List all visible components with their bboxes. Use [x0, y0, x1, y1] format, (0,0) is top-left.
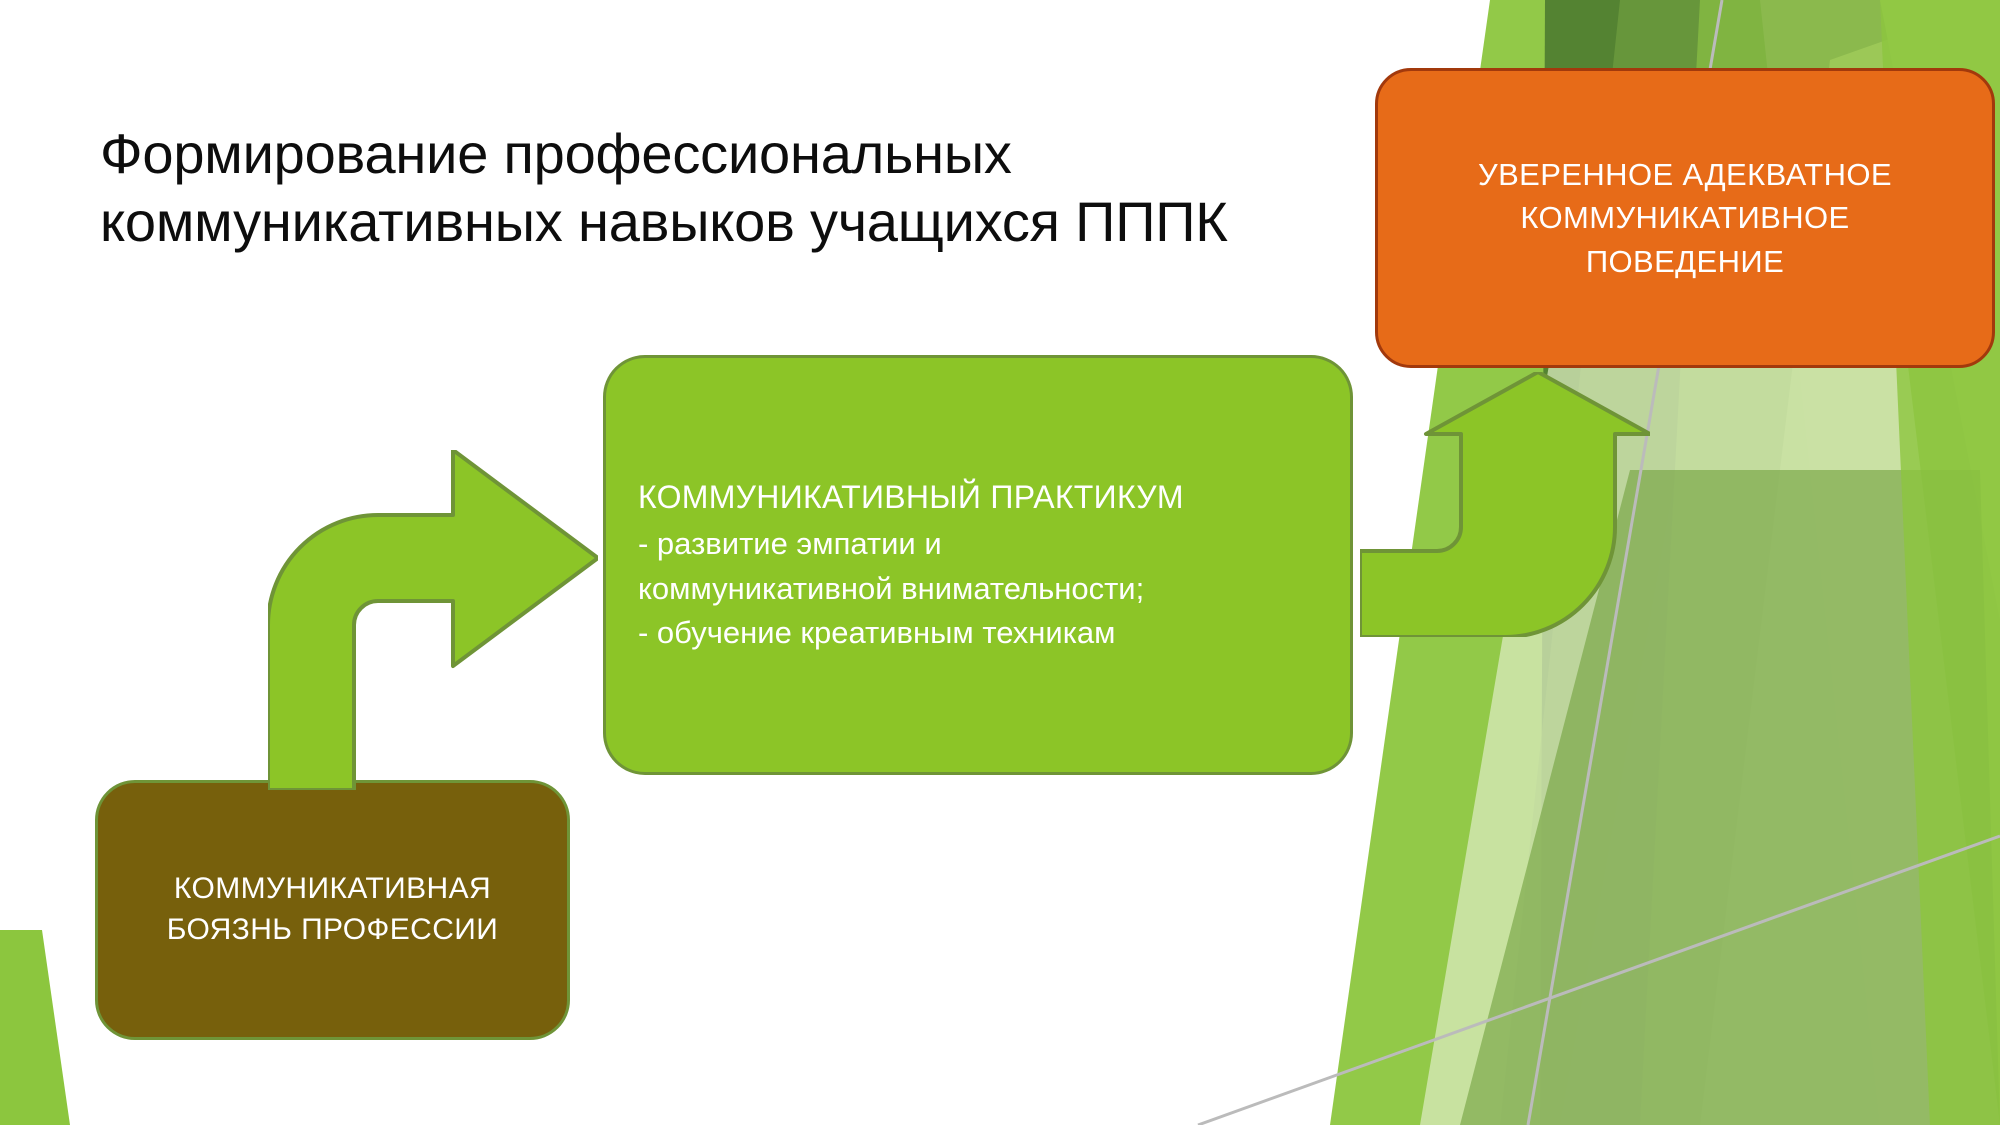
page-title: Формирование профессиональных коммуникат…: [100, 120, 1300, 257]
slide-canvas: Формирование профессиональных коммуникат…: [0, 0, 2000, 1125]
node-confident-behavior[interactable]: УВЕРЕННОЕ АДЕКВАТНОЕ КОММУНИКАТИВНОЕ ПОВ…: [1375, 68, 1995, 368]
node-confident-behavior-line-1: УВЕРЕННОЕ АДЕКВАТНОЕ: [1478, 153, 1892, 196]
node-communicative-practicum-text: КОММУНИКАТИВНЫЙ ПРАКТИКУМ - развитие эмп…: [638, 475, 1324, 656]
page-title-line-2: коммуникативных навыков учащихся ПППК: [100, 188, 1300, 256]
node-communicative-practicum-line-3: - обучение креативным техникам: [638, 611, 1324, 655]
node-communicative-fear-text: КОММУНИКАТИВНАЯ БОЯЗНЬ ПРОФЕССИИ: [167, 869, 498, 951]
decor-corner-wedge-2: [0, 950, 60, 1125]
node-communicative-practicum[interactable]: КОММУНИКАТИВНЫЙ ПРАКТИКУМ - развитие эмп…: [603, 355, 1353, 775]
decor-line-2: [1198, 836, 2000, 1125]
node-communicative-practicum-line-2: коммуникативной внимательности;: [638, 567, 1324, 611]
node-communicative-fear[interactable]: КОММУНИКАТИВНАЯ БОЯЗНЬ ПРОФЕССИИ: [95, 780, 570, 1040]
bent-arrow-right-up-icon: [1360, 372, 1650, 637]
node-confident-behavior-line-3: ПОВЕДЕНИЕ: [1478, 240, 1892, 283]
node-communicative-fear-line-1: КОММУНИКАТИВНАЯ: [167, 869, 498, 910]
decor-corner-wedge: [0, 930, 70, 1125]
page-title-line-1: Формирование профессиональных: [100, 120, 1300, 188]
node-communicative-practicum-line-1: - развитие эмпатии и: [638, 522, 1324, 566]
decor-band-7: [1420, 300, 2000, 1125]
node-communicative-practicum-heading: КОММУНИКАТИВНЫЙ ПРАКТИКУМ: [638, 475, 1324, 521]
node-confident-behavior-text: УВЕРЕННОЕ АДЕКВАТНОЕ КОММУНИКАТИВНОЕ ПОВ…: [1478, 153, 1892, 283]
bent-arrow-up-right-icon: [268, 450, 598, 790]
node-confident-behavior-line-2: КОММУНИКАТИВНОЕ: [1478, 196, 1892, 239]
decor-band-8: [1460, 470, 2000, 1125]
node-communicative-fear-line-2: БОЯЗНЬ ПРОФЕССИИ: [167, 910, 498, 951]
